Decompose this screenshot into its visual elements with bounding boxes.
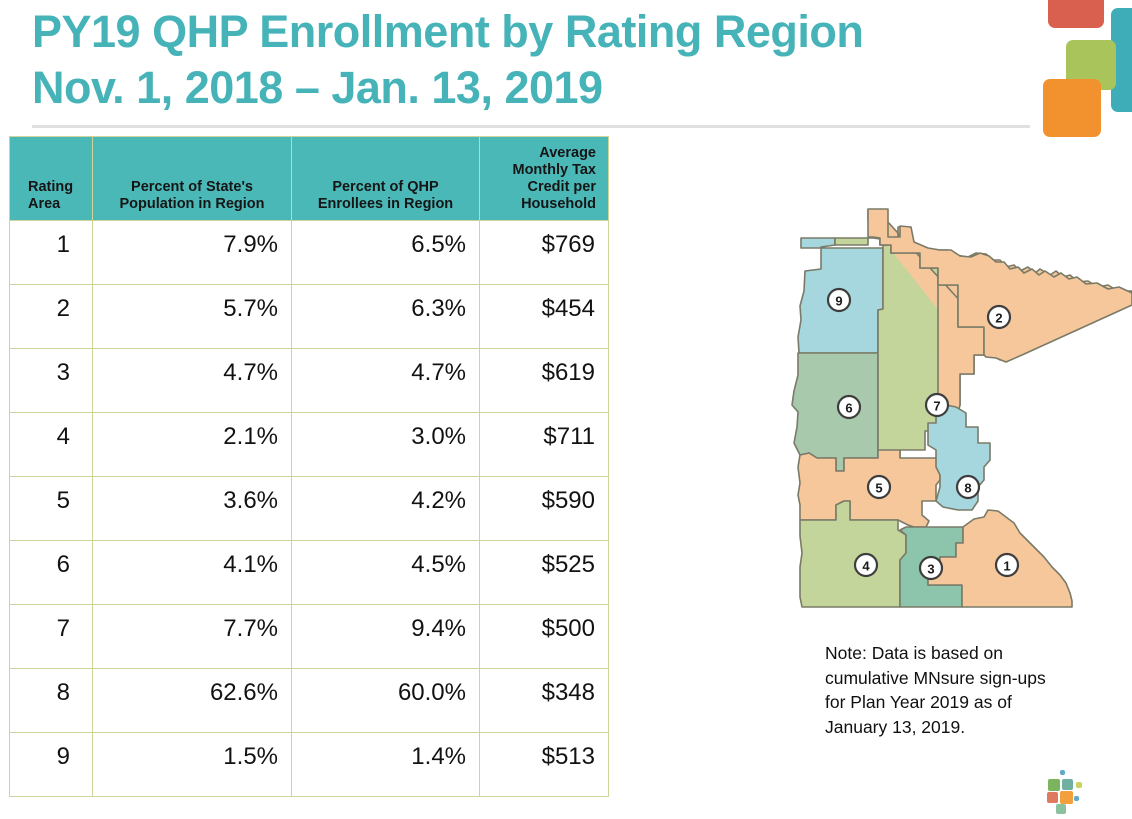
note-line-1: Note: Data is based on: [825, 641, 1103, 666]
cell-avg-tax-credit: $619: [480, 349, 609, 413]
logo-square: [1060, 791, 1073, 804]
svg-text:3: 3: [927, 562, 934, 577]
logo-square: [1074, 796, 1079, 801]
map-badge-5[interactable]: 5: [868, 476, 890, 498]
cell-percent-enrollees: 1.4%: [292, 733, 480, 797]
svg-text:1: 1: [1003, 559, 1010, 574]
svg-text:9: 9: [835, 294, 842, 309]
cell-percent-population: 4.1%: [93, 541, 292, 605]
header-line: Monthly Tax: [488, 162, 596, 179]
cell-percent-population: 62.6%: [93, 669, 292, 733]
cell-rating-area: 9: [10, 733, 93, 797]
logo-square: [1047, 792, 1058, 803]
map-badge-3[interactable]: 3: [920, 557, 942, 579]
map-note: Note: Data is based on cumulative MNsure…: [825, 641, 1103, 739]
table-row: 17.9%6.5%$769: [10, 221, 609, 285]
cell-percent-population: 1.5%: [93, 733, 292, 797]
note-line-4: January 13, 2019.: [825, 715, 1103, 740]
logo-square: [1076, 782, 1082, 788]
page-title: PY19 QHP Enrollment by Rating Region Nov…: [32, 4, 1032, 116]
map-badge-9[interactable]: 9: [828, 289, 850, 311]
cell-rating-area: 4: [10, 413, 93, 477]
cell-rating-area: 6: [10, 541, 93, 605]
cell-percent-population: 7.7%: [93, 605, 292, 669]
cell-percent-enrollees: 4.2%: [292, 477, 480, 541]
svg-text:4: 4: [862, 559, 870, 574]
cell-avg-tax-credit: $500: [480, 605, 609, 669]
logo-square: [1048, 779, 1060, 791]
table-row: 77.7%9.4%$500: [10, 605, 609, 669]
logo-square: [1060, 770, 1065, 775]
logo-square: [1062, 779, 1073, 790]
table-row: 862.6%60.0%$348: [10, 669, 609, 733]
table-row: 91.5%1.4%$513: [10, 733, 609, 797]
deco-red-square: [1048, 0, 1104, 28]
cell-rating-area: 8: [10, 669, 93, 733]
column-header-avg-tax-credit: Average Monthly Tax Credit per Household: [480, 137, 609, 221]
cell-avg-tax-credit: $769: [480, 221, 609, 285]
note-line-3: for Plan Year 2019 as of: [825, 690, 1103, 715]
cell-percent-population: 5.7%: [93, 285, 292, 349]
table-row: 34.7%4.7%$619: [10, 349, 609, 413]
cell-percent-population: 7.9%: [93, 221, 292, 285]
header-line: Average: [488, 145, 596, 162]
map-badge-7[interactable]: 7: [926, 394, 948, 416]
map-badge-1[interactable]: 1: [996, 554, 1018, 576]
cell-percent-enrollees: 3.0%: [292, 413, 480, 477]
cell-rating-area: 5: [10, 477, 93, 541]
cell-avg-tax-credit: $525: [480, 541, 609, 605]
corner-decoration: [1038, 0, 1132, 140]
header-line: Population in Region: [101, 196, 283, 213]
cell-percent-enrollees: 60.0%: [292, 669, 480, 733]
logo-square: [1056, 804, 1066, 814]
svg-text:2: 2: [995, 311, 1002, 326]
note-line-2: cumulative MNsure sign-ups: [825, 666, 1103, 691]
header-line: Enrollees in Region: [300, 196, 471, 213]
column-header-percent-population: Percent of State's Population in Region: [93, 137, 292, 221]
cell-percent-enrollees: 6.5%: [292, 221, 480, 285]
deco-orange-square: [1043, 79, 1101, 137]
header-line: Credit per: [488, 179, 596, 196]
cell-percent-population: 2.1%: [93, 413, 292, 477]
header-line: Percent of State's: [101, 179, 283, 196]
map-badge-8[interactable]: 8: [957, 476, 979, 498]
header-line: Rating: [28, 179, 84, 196]
header-line: Percent of QHP: [300, 179, 471, 196]
map-badge-4[interactable]: 4: [855, 554, 877, 576]
cell-percent-enrollees: 6.3%: [292, 285, 480, 349]
title-line-2: Nov. 1, 2018 – Jan. 13, 2019: [32, 60, 1032, 116]
cell-avg-tax-credit: $348: [480, 669, 609, 733]
svg-text:8: 8: [964, 481, 971, 496]
cell-rating-area: 1: [10, 221, 93, 285]
svg-text:7: 7: [933, 399, 940, 414]
cell-percent-population: 3.6%: [93, 477, 292, 541]
column-header-rating-area: Rating Area: [10, 137, 93, 221]
cell-percent-population: 4.7%: [93, 349, 292, 413]
cell-percent-enrollees: 4.7%: [292, 349, 480, 413]
cell-rating-area: 7: [10, 605, 93, 669]
cell-rating-area: 3: [10, 349, 93, 413]
title-divider: [32, 125, 1030, 128]
rating-region-table: Rating Area Percent of State's Populatio…: [9, 136, 609, 797]
map-badge-2[interactable]: 2: [988, 306, 1010, 328]
cell-percent-enrollees: 9.4%: [292, 605, 480, 669]
cell-avg-tax-credit: $711: [480, 413, 609, 477]
cell-rating-area: 2: [10, 285, 93, 349]
table-row: 53.6%4.2%$590: [10, 477, 609, 541]
cell-avg-tax-credit: $590: [480, 477, 609, 541]
svg-text:5: 5: [875, 481, 882, 496]
minnesota-rating-region-map: 9 2 6 7 5 8 4 3: [788, 205, 1132, 625]
cell-avg-tax-credit: $454: [480, 285, 609, 349]
map-badge-6[interactable]: 6: [838, 396, 860, 418]
mnsure-logo-mark: [1046, 770, 1092, 812]
table-row: 64.1%4.5%$525: [10, 541, 609, 605]
table-row: 42.1%3.0%$711: [10, 413, 609, 477]
table-row: 25.7%6.3%$454: [10, 285, 609, 349]
title-line-1: PY19 QHP Enrollment by Rating Region: [32, 4, 1032, 60]
cell-percent-enrollees: 4.5%: [292, 541, 480, 605]
cell-avg-tax-credit: $513: [480, 733, 609, 797]
svg-text:6: 6: [845, 401, 852, 416]
header-line: Area: [28, 196, 84, 213]
column-header-percent-enrollees: Percent of QHP Enrollees in Region: [292, 137, 480, 221]
table-header-row: Rating Area Percent of State's Populatio…: [10, 137, 609, 221]
header-line: Household: [488, 196, 596, 213]
